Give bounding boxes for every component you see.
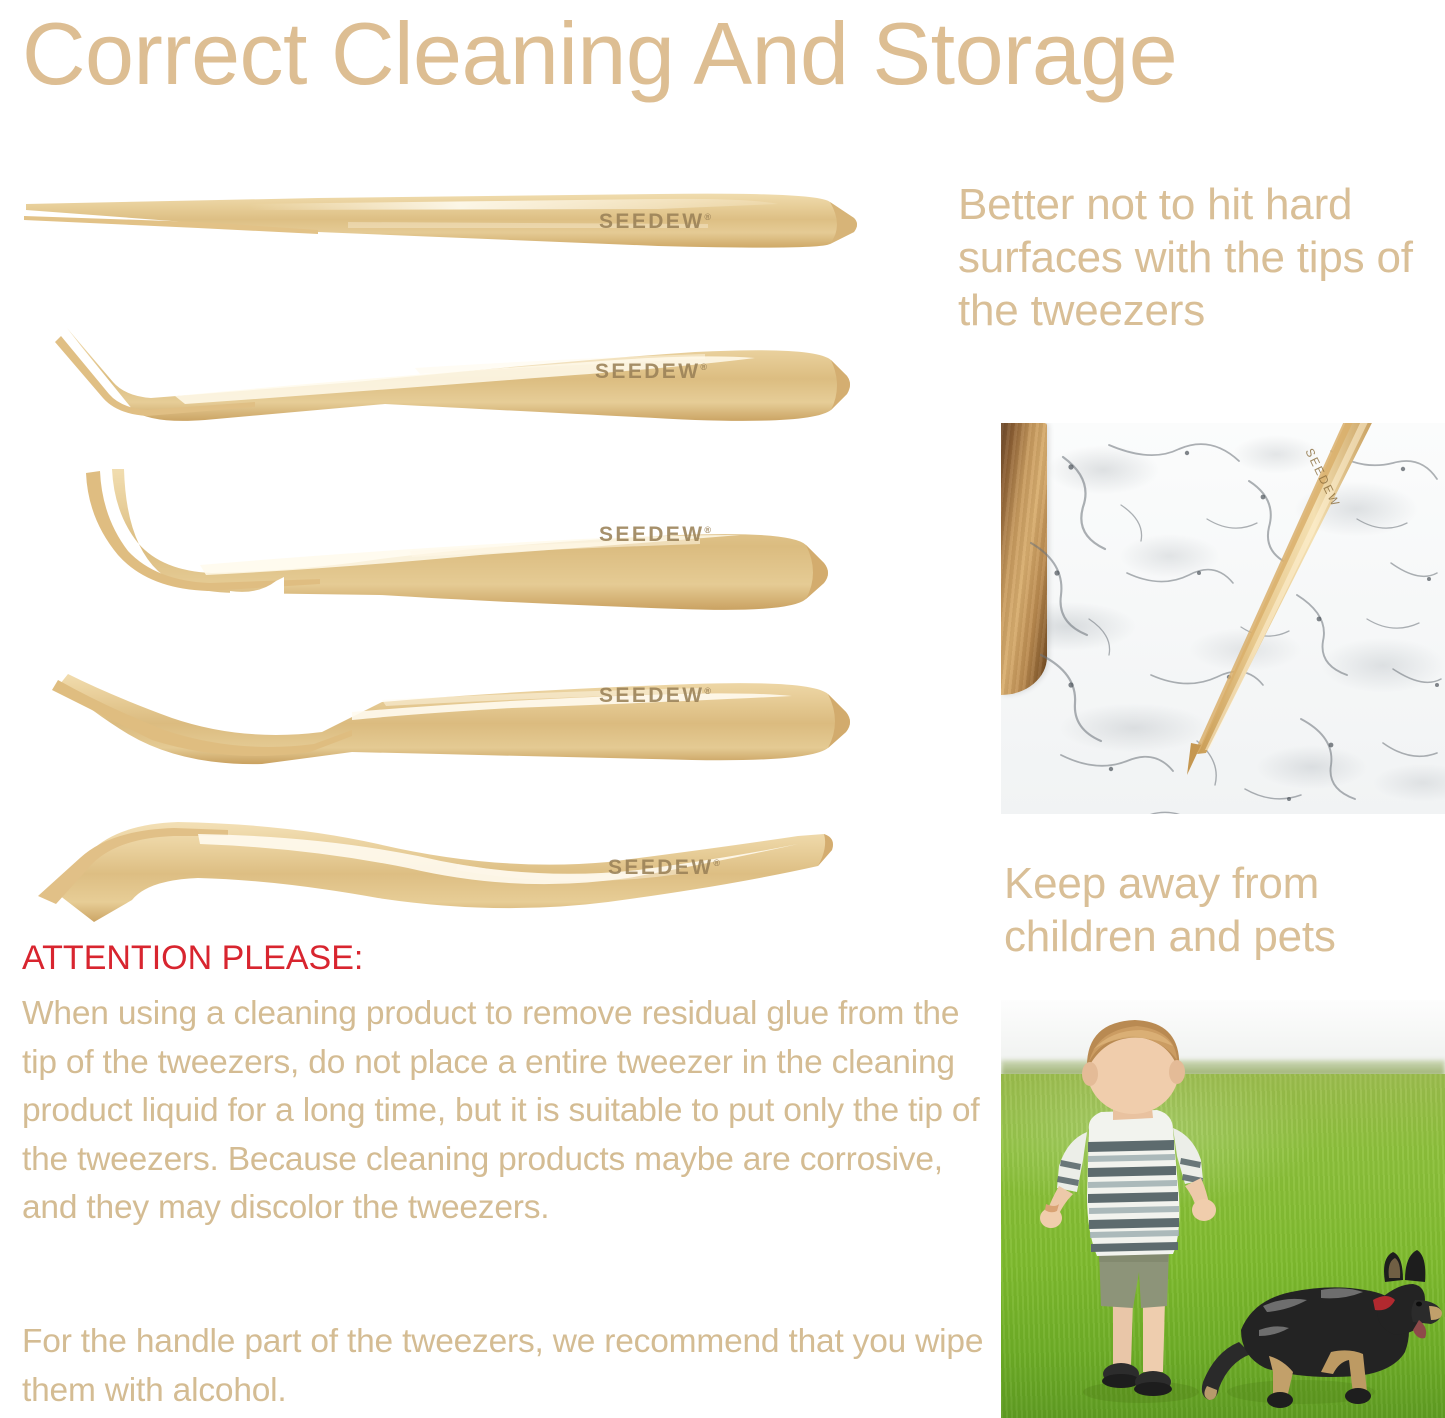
attention-paragraph-2: For the handle part of the tweezers, we … [22,1318,1002,1415]
tweezer-45-degree: SEEDEW® [55,320,855,450]
curved-l-tweezer-icon [80,465,860,615]
page-title: Correct Cleaning And Storage [22,4,1442,104]
tip-caption-children-pets: Keep away from children and pets [1004,857,1445,963]
angled-45-tweezer-icon [55,320,855,450]
brand-engraving: SEEDEW® [599,210,711,234]
child-and-dog-photo [1001,1000,1445,1418]
tweezer-curved-l: SEEDEW® [80,465,860,615]
toddler-figure [1040,1020,1216,1396]
attention-heading: ATTENTION PLEASE: [22,938,363,978]
s-curve-volume-tweezer-icon [28,800,848,930]
straight-point-tweezer-icon [18,188,863,268]
photo-subjects [1001,1000,1445,1418]
infographic-page: Correct Cleaning And Storage [0,0,1445,1418]
attention-paragraph-1: When using a cleaning product to remove … [22,990,1002,1233]
curved-boot-tweezer-icon [52,650,862,780]
tweezer-s-curve: SEEDEW® [28,800,848,930]
brand-engraving: SEEDEW® [595,360,707,384]
brand-engraving: SEEDEW® [599,523,711,547]
tweezer-lineup: SEEDEW® [0,150,900,940]
tip-caption-hard-surfaces: Better not to hit hard surfaces with the… [958,178,1445,337]
brand-engraving: SEEDEW® [608,856,720,880]
brand-engraving: SEEDEW® [599,684,711,708]
marble-veins [1001,423,1445,814]
tweezer-straight-point: SEEDEW® [18,188,863,268]
tweezer-on-marble-photo: SEEDEW [1001,423,1445,814]
tweezer-curved-boot: SEEDEW® [52,650,862,780]
gold-tweezer-in-photo [1187,423,1392,775]
